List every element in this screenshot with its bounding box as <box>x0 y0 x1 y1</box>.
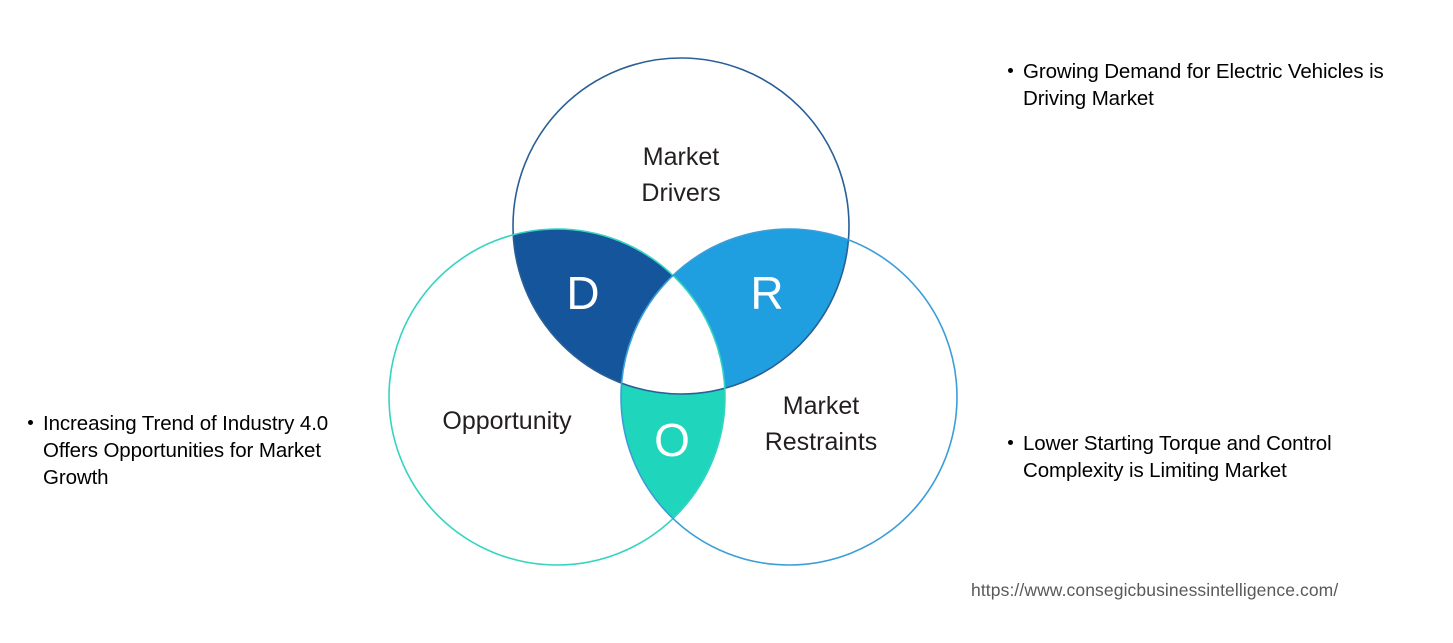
callout-opportunity: Increasing Trend of Industry 4.0 Offers … <box>28 410 363 491</box>
callout-restraints: Lower Starting Torque and Control Comple… <box>1008 430 1428 484</box>
callout-drivers-text: Growing Demand for Electric Vehicles is … <box>1023 58 1440 112</box>
callout-restraints-text: Lower Starting Torque and Control Comple… <box>1023 430 1428 484</box>
diagram-canvas: Market Drivers Opportunity Market Restra… <box>0 0 1453 643</box>
bullet-icon <box>1008 440 1013 445</box>
bullet-icon <box>28 420 33 425</box>
circle-label-market-drivers: Market Drivers <box>641 139 720 212</box>
circle-label-opportunity: Opportunity <box>442 403 571 439</box>
source-url-link[interactable]: https://www.consegicbusinessintelligence… <box>971 580 1338 601</box>
callout-opportunity-text: Increasing Trend of Industry 4.0 Offers … <box>43 410 363 491</box>
circle-label-market-restraints: Market Restraints <box>765 388 878 461</box>
callout-drivers: Growing Demand for Electric Vehicles is … <box>1008 58 1440 112</box>
bullet-icon <box>1008 68 1013 73</box>
